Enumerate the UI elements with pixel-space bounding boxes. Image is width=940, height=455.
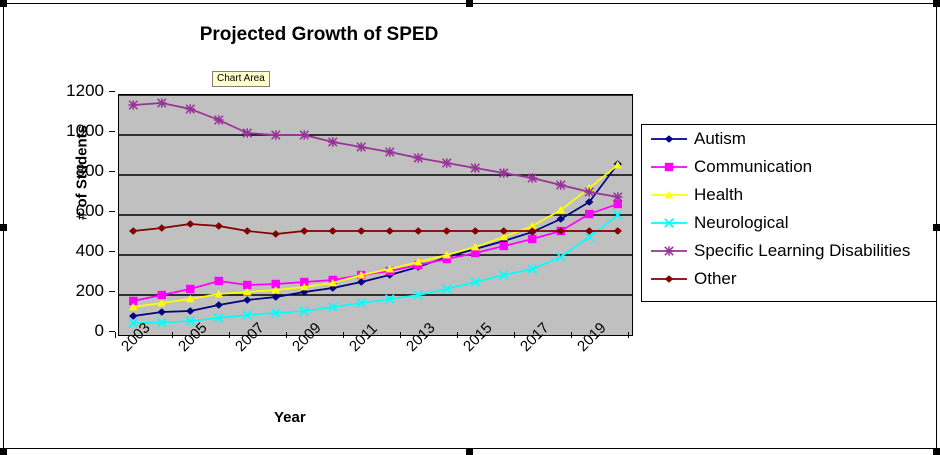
data-point bbox=[186, 285, 194, 293]
y-tick-mark bbox=[109, 251, 115, 252]
x-axis-title: Year bbox=[274, 409, 306, 426]
data-point bbox=[243, 296, 251, 304]
data-point bbox=[328, 137, 338, 147]
legend-marker-star-icon bbox=[650, 244, 688, 258]
data-point bbox=[528, 235, 536, 243]
data-point bbox=[664, 246, 674, 256]
legend-item[interactable]: Health bbox=[642, 181, 936, 209]
series-specific-learning-disabilities[interactable] bbox=[128, 98, 622, 202]
legend-marker-x-icon bbox=[650, 216, 688, 230]
y-tick-label: 400 bbox=[40, 242, 104, 259]
series-line bbox=[133, 103, 618, 197]
data-point bbox=[357, 278, 365, 286]
data-point bbox=[158, 224, 166, 232]
data-point bbox=[215, 277, 223, 285]
x-tick-mark bbox=[115, 332, 116, 338]
data-point bbox=[129, 312, 137, 320]
legend-marker-square-icon bbox=[650, 160, 688, 174]
data-point bbox=[214, 115, 224, 125]
chart-object-frame[interactable]: Projected Growth of SPED Chart Area # of… bbox=[3, 3, 937, 449]
legend-label: Neurological bbox=[694, 214, 789, 232]
x-tick-mark bbox=[457, 332, 458, 338]
selection-handle[interactable] bbox=[466, 0, 473, 7]
data-point bbox=[557, 253, 565, 261]
legend-marker-diamond-icon bbox=[650, 132, 688, 146]
data-point bbox=[158, 291, 166, 299]
data-point bbox=[614, 227, 622, 235]
data-point bbox=[215, 222, 223, 230]
data-point bbox=[299, 130, 309, 140]
y-tick-label: 600 bbox=[40, 202, 104, 219]
legend-label: Other bbox=[694, 270, 737, 288]
selection-handle[interactable] bbox=[933, 0, 940, 7]
y-tick-label: 0 bbox=[40, 322, 104, 339]
y-tick-mark bbox=[109, 131, 115, 132]
y-tick-mark bbox=[109, 291, 115, 292]
data-point bbox=[585, 210, 593, 218]
data-point bbox=[499, 168, 509, 178]
legend-item[interactable]: Other bbox=[642, 265, 936, 293]
data-point bbox=[215, 301, 223, 309]
data-point bbox=[129, 227, 137, 235]
x-tick-mark bbox=[571, 332, 572, 338]
chart-title[interactable]: Projected Growth of SPED bbox=[4, 24, 634, 46]
data-point bbox=[500, 227, 508, 235]
legend-marker-triangle-icon bbox=[650, 188, 688, 202]
data-point bbox=[386, 227, 394, 235]
series-autism[interactable] bbox=[129, 160, 622, 320]
series-line bbox=[133, 164, 618, 316]
data-point bbox=[665, 135, 673, 143]
data-point bbox=[414, 227, 422, 235]
data-point bbox=[272, 230, 280, 238]
selection-handle[interactable] bbox=[466, 448, 473, 455]
data-point bbox=[157, 98, 167, 108]
data-point bbox=[242, 128, 252, 138]
y-tick-label: 800 bbox=[40, 162, 104, 179]
data-point bbox=[186, 220, 194, 228]
x-tick-mark bbox=[400, 332, 401, 338]
data-point bbox=[128, 100, 138, 110]
data-point bbox=[413, 153, 423, 163]
x-tick-mark bbox=[628, 332, 629, 338]
data-point bbox=[357, 227, 365, 235]
data-point bbox=[556, 180, 566, 190]
y-tick-label: 200 bbox=[40, 282, 104, 299]
series-neurological[interactable] bbox=[129, 211, 622, 327]
y-tick-mark bbox=[109, 91, 115, 92]
legend-label: Specific Learning Disabilities bbox=[694, 242, 910, 260]
x-tick-mark bbox=[229, 332, 230, 338]
legend-label: Health bbox=[694, 186, 743, 204]
plot-area[interactable] bbox=[118, 94, 633, 336]
data-point bbox=[470, 163, 480, 173]
data-point bbox=[443, 227, 451, 235]
legend-item[interactable]: Specific Learning Disabilities bbox=[642, 237, 936, 265]
chart-area-tooltip: Chart Area bbox=[212, 71, 270, 87]
data-point bbox=[271, 130, 281, 140]
screenshot-root: Projected Growth of SPED Chart Area # of… bbox=[0, 0, 940, 455]
x-tick-mark bbox=[343, 332, 344, 338]
legend-item[interactable]: Neurological bbox=[642, 209, 936, 237]
selection-handle[interactable] bbox=[0, 224, 7, 231]
data-point bbox=[385, 147, 395, 157]
data-point bbox=[158, 308, 166, 316]
chart-legend[interactable]: AutismCommunicationHealthNeurologicalSpe… bbox=[641, 124, 937, 302]
selection-handle[interactable] bbox=[0, 448, 7, 455]
y-tick-mark bbox=[109, 211, 115, 212]
data-point bbox=[186, 307, 194, 315]
data-point bbox=[665, 275, 673, 283]
selection-handle[interactable] bbox=[933, 224, 940, 231]
data-point bbox=[471, 227, 479, 235]
legend-item[interactable]: Autism bbox=[642, 125, 936, 153]
x-tick-mark bbox=[514, 332, 515, 338]
legend-item[interactable]: Communication bbox=[642, 153, 936, 181]
data-point bbox=[300, 227, 308, 235]
legend-label: Autism bbox=[694, 130, 746, 148]
selection-handle[interactable] bbox=[933, 448, 940, 455]
x-tick-mark bbox=[172, 332, 173, 338]
data-point bbox=[613, 192, 623, 202]
data-point bbox=[584, 187, 594, 197]
legend-label: Communication bbox=[694, 158, 812, 176]
data-point bbox=[185, 104, 195, 114]
x-tick-mark bbox=[286, 332, 287, 338]
series-health[interactable] bbox=[129, 161, 622, 311]
legend-marker-diamond-icon bbox=[650, 272, 688, 286]
data-point bbox=[665, 163, 673, 171]
y-tick-label: 1200 bbox=[40, 82, 104, 99]
data-point bbox=[527, 173, 537, 183]
selection-handle[interactable] bbox=[0, 0, 7, 7]
data-point bbox=[356, 142, 366, 152]
data-point bbox=[500, 242, 508, 250]
y-tick-mark bbox=[109, 171, 115, 172]
series-canvas bbox=[119, 95, 632, 335]
data-point bbox=[243, 227, 251, 235]
y-tick-label: 1000 bbox=[40, 122, 104, 139]
data-point bbox=[442, 158, 452, 168]
data-point bbox=[329, 227, 337, 235]
